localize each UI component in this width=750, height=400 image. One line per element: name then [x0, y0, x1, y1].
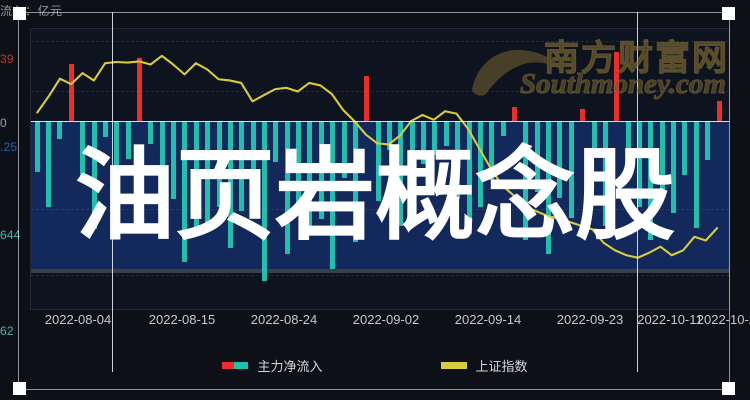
x-axis-tick-1: 2022-08-15 [149, 312, 216, 327]
screenshot-canvas: 流入：亿元 390.2564462 2022-08-042022-08-1520… [0, 0, 750, 400]
resize-handle-bottom-left[interactable] [13, 382, 26, 395]
index-swatch-icon [441, 362, 467, 369]
x-axis-tick-labels: 2022-08-042022-08-152022-08-242022-09-02… [0, 312, 750, 338]
legend-label-0: 主力净流入 [257, 356, 322, 375]
y-axis-tick-1: 0 [0, 116, 7, 130]
x-axis-tick-6: 2022-10-11 [637, 312, 703, 327]
resize-handle-bottom-right[interactable] [722, 382, 735, 395]
zero-axis-line [30, 121, 730, 122]
x-axis-tick-4: 2022-09-14 [455, 312, 522, 327]
legend-label-1: 上证指数 [476, 356, 528, 375]
x-axis-tick-7: 2022-10-20 [697, 312, 750, 327]
chart-legend: 主力净流入上证指数 [0, 352, 750, 378]
page-title: 油页岩概念股 [75, 146, 675, 246]
x-axis-tick-5: 2022-09-23 [557, 312, 624, 327]
y-axis-tick-0: 39 [0, 52, 14, 66]
x-axis-tick-2: 2022-08-24 [251, 312, 318, 327]
x-axis-tick-0: 2022-08-04 [45, 312, 112, 327]
legend-item-0[interactable]: 主力净流入 [222, 356, 322, 375]
legend-item-1[interactable]: 上证指数 [441, 356, 528, 375]
x-axis-tick-3: 2022-09-02 [353, 312, 420, 327]
resize-handle-top-right[interactable] [722, 7, 735, 20]
y-axis-unit-label: 流入：亿元 [0, 2, 63, 19]
flow-swatch-icon [222, 362, 248, 369]
overlay-title-banner: 油页岩概念股 [0, 140, 750, 252]
